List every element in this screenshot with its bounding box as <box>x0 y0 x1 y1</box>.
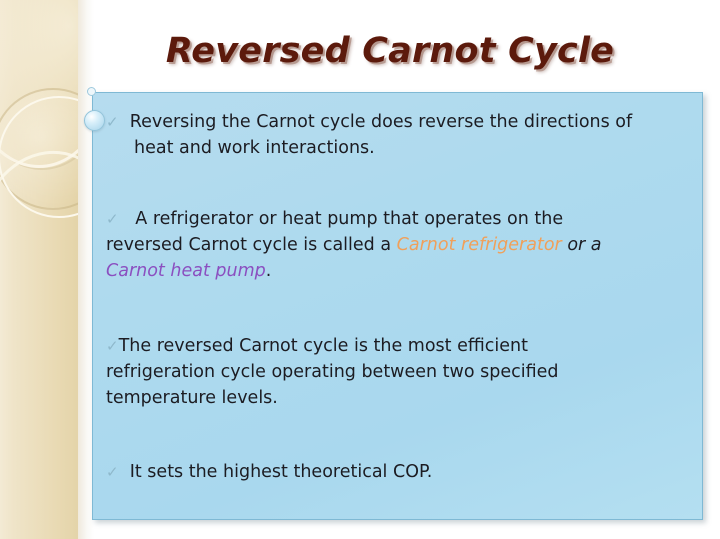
decorative-left-band <box>0 0 78 539</box>
bullet-4-text-line-1: It sets the highest theoretical COP. <box>130 462 433 482</box>
bullet-2-text-b: or a <box>562 235 602 255</box>
decorative-arc-large <box>0 0 78 168</box>
bullet-3-line-2: refrigeration cycle operating between tw… <box>106 359 686 385</box>
bullet-3-text-line-1: The reversed Carnot cycle is the most ef… <box>119 336 528 356</box>
bullet-1-line-2: heat and work interactions. <box>106 135 686 161</box>
bullet-1-text-line-1: Reversing the Carnot cycle does reverse … <box>130 112 632 132</box>
bullet-2-period: . <box>266 261 272 281</box>
bullet-2-line-3: Carnot heat pump. <box>106 258 686 284</box>
checkmark-icon: ✓ <box>106 337 119 355</box>
bullet-1-line-1: ✓ Reversing the Carnot cycle does revers… <box>106 109 686 135</box>
bullet-2-text-line-1: A refrigerator or heat pump that operate… <box>135 209 563 229</box>
bullet-2-text-a: reversed Carnot cycle is called a <box>106 235 397 255</box>
corner-dot-icon <box>87 87 96 96</box>
decorative-arc-large-shadow <box>0 0 78 170</box>
bullet-3-line-1: ✓The reversed Carnot cycle is the most e… <box>106 333 686 359</box>
term-carnot-heat-pump: Carnot heat pump <box>106 261 266 281</box>
bullet-2-line-1: ✓ A refrigerator or heat pump that opera… <box>106 206 686 232</box>
bullet-item-4: ✓ It sets the highest theoretical COP. <box>106 459 686 485</box>
bullet-2-line-2: reversed Carnot cycle is called a Carnot… <box>106 232 686 258</box>
term-carnot-refrigerator: Carnot refrigerator <box>397 235 562 255</box>
checkmark-icon: ✓ <box>106 463 119 481</box>
edge-bubble-icon <box>84 110 105 131</box>
page-title: Reversed Carnot Cycle <box>110 31 670 71</box>
decorative-arc-sweep <box>0 133 78 323</box>
bullet-3-line-3: temperature levels. <box>106 385 686 411</box>
bullet-4-line-1: ✓ It sets the highest theoretical COP. <box>106 459 686 485</box>
slide-canvas: Reversed Carnot Cycle ✓ Reversing the Ca… <box>0 0 720 539</box>
checkmark-icon: ✓ <box>106 113 119 131</box>
bullet-item-2: ✓ A refrigerator or heat pump that opera… <box>106 206 686 284</box>
checkmark-icon: ✓ <box>106 210 119 228</box>
bullet-item-1: ✓ Reversing the Carnot cycle does revers… <box>106 109 686 161</box>
bullet-item-3: ✓The reversed Carnot cycle is the most e… <box>106 333 686 411</box>
